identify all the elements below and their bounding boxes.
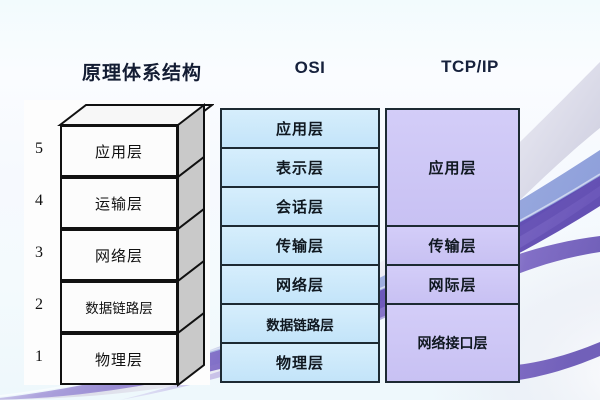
column-title-osi: OSI [230,58,390,78]
principle-layer-3-label: 网络层 [95,245,143,266]
tcpip-row-internet-label: 网际层 [428,274,476,295]
principle-layer-2-label: 数据链路层 [85,297,153,317]
tcpip-row-transport[interactable]: 传输层 [387,227,518,266]
layer-number-5: 5 [28,140,50,158]
osi-row-application[interactable]: 应用层 [222,110,378,149]
column-title-tcpip: TCP/IP [390,57,550,77]
osi-row-transport-label: 传输层 [276,235,324,256]
osi-row-session-label: 会话层 [276,196,324,217]
osi-row-presentation-label: 表示层 [276,157,324,178]
tcpip-row-network-interface[interactable]: 网络接口层 [387,305,518,381]
principle-layer-5[interactable]: 应用层 [60,125,178,177]
osi-row-network-label: 网络层 [276,274,324,295]
layer-number-2: 2 [28,296,50,314]
principle-layer-4[interactable]: 运输层 [60,177,178,229]
tcpip-row-transport-label: 传输层 [428,235,476,256]
osi-row-presentation[interactable]: 表示层 [222,149,378,188]
osi-row-physical[interactable]: 物理层 [222,344,378,381]
layer-number-4: 4 [28,192,50,210]
principle-layer-4-label: 运输层 [95,193,143,214]
principle-layer-2[interactable]: 数据链路层 [60,281,178,333]
osi-row-network[interactable]: 网络层 [222,266,378,305]
principle-layer-3[interactable]: 网络层 [60,229,178,281]
osi-layer-table: 应用层 表示层 会话层 传输层 网络层 数据链路层 物理层 [220,108,380,383]
principle-architecture-stack: 5 4 3 2 1 应用层 运输层 网络层 数据链路层 物理层 [24,100,214,390]
osi-row-datalink[interactable]: 数据链路层 [222,305,378,344]
column-title-principle: 原理体系结构 [52,58,232,85]
layer-number-1: 1 [28,348,50,366]
osi-row-application-label: 应用层 [276,118,324,139]
osi-row-session[interactable]: 会话层 [222,188,378,227]
tcpip-layer-table: 应用层 传输层 网际层 网络接口层 [385,108,520,383]
principle-layer-5-label: 应用层 [95,141,143,162]
tcpip-row-application[interactable]: 应用层 [387,110,518,227]
principle-layer-1-label: 物理层 [95,349,143,370]
tcpip-row-application-label: 应用层 [428,157,476,178]
tcpip-row-network-interface-label: 网络接口层 [418,333,488,353]
principle-layer-1[interactable]: 物理层 [60,333,178,385]
osi-row-transport[interactable]: 传输层 [222,227,378,266]
tcpip-row-internet[interactable]: 网际层 [387,266,518,305]
slide-canvas: 原理体系结构 5 4 3 2 1 应用层 运输层 网络层 [0,0,600,400]
osi-row-datalink-label: 数据链路层 [266,314,334,334]
layer-number-3: 3 [28,244,50,262]
osi-row-physical-label: 物理层 [276,352,324,373]
